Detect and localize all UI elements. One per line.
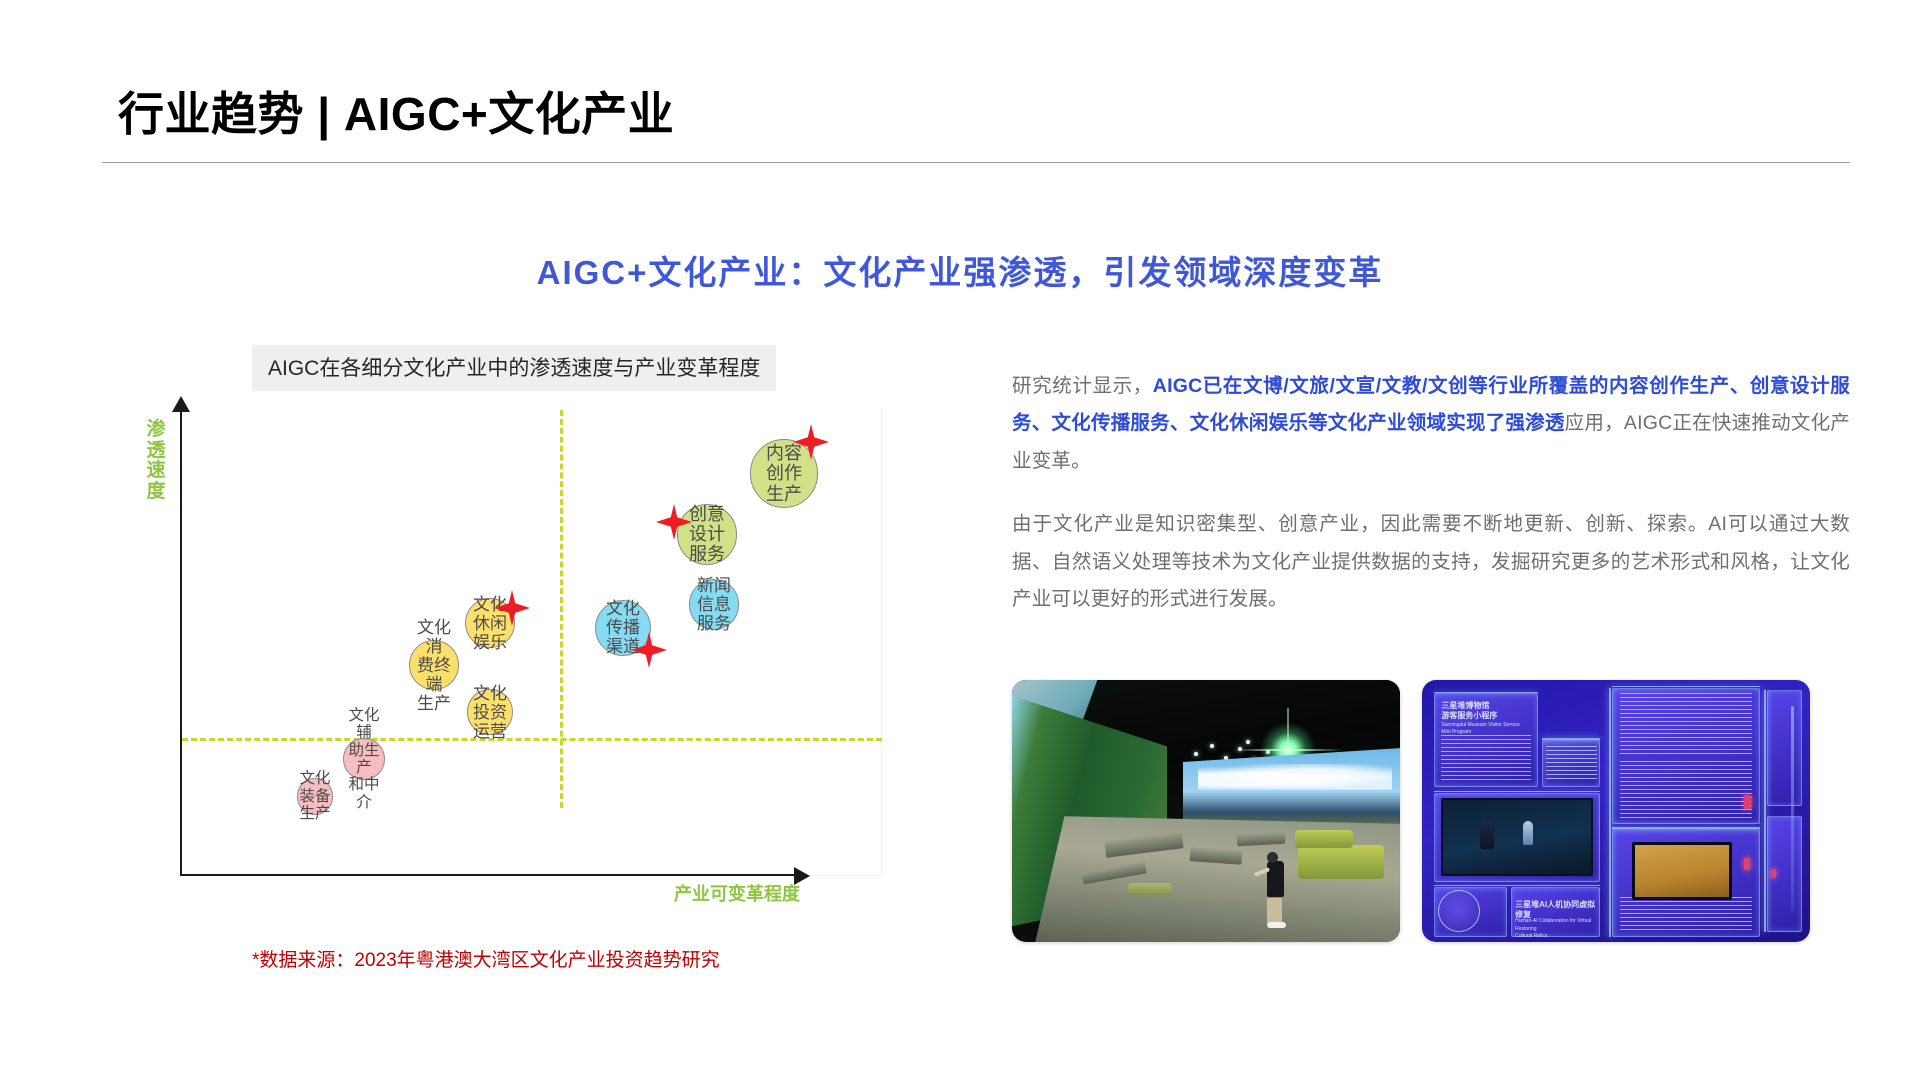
light-edge-vertical bbox=[1609, 688, 1611, 937]
body-paragraph-1: 研究统计显示，AIGC已在文博/文旅/文宣/文教/文创等行业所覆盖的内容创作生产… bbox=[1012, 368, 1850, 480]
moss-patch-3 bbox=[1128, 883, 1172, 895]
chart-title: AIGC在各细分文化产业中的渗透速度与产业变革程度 bbox=[252, 345, 776, 391]
page-title: 行业趋势 | AIGC+文化产业 bbox=[118, 78, 674, 144]
screen-figure-silhouette-2 bbox=[1523, 821, 1533, 845]
bubble-chart-plot: 渗透速度 产业可变革程度 文化辅助生产和中介文化装备生产文化休闲娱乐文化消费终端… bbox=[122, 400, 932, 910]
exhibit-seal-emblem bbox=[1438, 890, 1480, 932]
exhibit-bodytext-right-en bbox=[1620, 761, 1752, 819]
visitor-shoes bbox=[1267, 922, 1286, 928]
accent-light-3 bbox=[1771, 869, 1776, 878]
exhibit-bodytext-right-bottom bbox=[1620, 897, 1752, 931]
photo-museum-ai-exhibition: 三星堆博物馆游客服务小程序 Sanxingdui Museum Visitor … bbox=[1422, 680, 1810, 942]
chart-source-note: *数据来源：2023年粤港澳大湾区文化产业投资趋势研究 bbox=[252, 945, 720, 972]
body-text-column: 研究统计显示，AIGC已在文博/文旅/文宣/文教/文创等行业所覆盖的内容创作生产… bbox=[1012, 368, 1850, 619]
exhibit-video-screen bbox=[1441, 798, 1592, 877]
slide-subtitle: AIGC+文化产业：文化产业强渗透，引发领域深度变革 bbox=[0, 246, 1920, 294]
exhibit-bodytext-small bbox=[1546, 746, 1596, 783]
accent-light-1 bbox=[1744, 795, 1751, 809]
light-edge-4 bbox=[1542, 738, 1600, 740]
screen-figure-silhouette bbox=[1480, 819, 1494, 849]
slide-root: 行业趋势 | AIGC+文化产业 AIGC+文化产业：文化产业强渗透，引发领域深… bbox=[0, 0, 1920, 1080]
photo-immersive-projection-room bbox=[1012, 680, 1400, 942]
sparkle-star-icon bbox=[791, 422, 831, 462]
light-edge-1 bbox=[1434, 692, 1539, 694]
light-edge-6 bbox=[1612, 827, 1759, 829]
exhibit-heading-1: 三星堆博物馆游客服务小程序 bbox=[1441, 701, 1534, 722]
exhibit-relic-screen bbox=[1632, 842, 1733, 900]
info-panel-far-right bbox=[1767, 690, 1802, 805]
light-edge-vertical-2 bbox=[1764, 690, 1766, 931]
exhibit-subheading-2: Human-AI Collaboration for Virtual Resto… bbox=[1515, 918, 1600, 940]
light-edge-3 bbox=[1434, 885, 1601, 887]
header-divider bbox=[102, 162, 1850, 163]
star-layer bbox=[122, 400, 932, 910]
photo-row: 三星堆博物馆游客服务小程序 Sanxingdui Museum Visitor … bbox=[1012, 680, 1810, 942]
light-edge-5 bbox=[1612, 686, 1759, 688]
sparkle-star-icon bbox=[654, 502, 694, 542]
text-run-1: 研究统计显示， bbox=[1012, 375, 1153, 397]
body-paragraph-2: 由于文化产业是知识密集型、创意产业，因此需要不断地更新、创新、探索。AI可以通过… bbox=[1012, 506, 1850, 618]
visitor-legs bbox=[1267, 898, 1282, 924]
visitor-torso bbox=[1267, 861, 1284, 897]
accent-light-2 bbox=[1744, 858, 1750, 870]
moss-patch-2 bbox=[1295, 830, 1353, 848]
exhibit-bodytext-1 bbox=[1441, 735, 1530, 782]
exhibit-bodytext-right-cn bbox=[1620, 693, 1752, 756]
light-edge-2 bbox=[1434, 791, 1601, 793]
moss-patch-1 bbox=[1298, 845, 1384, 879]
sparkle-star-icon bbox=[629, 630, 669, 670]
sparkle-star-icon bbox=[492, 588, 532, 628]
text-run-1: 由于文化产业是知识密集型、创意产业，因此需要不断地更新、创新、探索。AI可以通过… bbox=[1012, 513, 1850, 610]
chart-panel: AIGC在各细分文化产业中的渗透速度与产业变革程度 渗透速度 产业可变革程度 文… bbox=[100, 345, 980, 985]
sky-clouds bbox=[1198, 764, 1392, 790]
